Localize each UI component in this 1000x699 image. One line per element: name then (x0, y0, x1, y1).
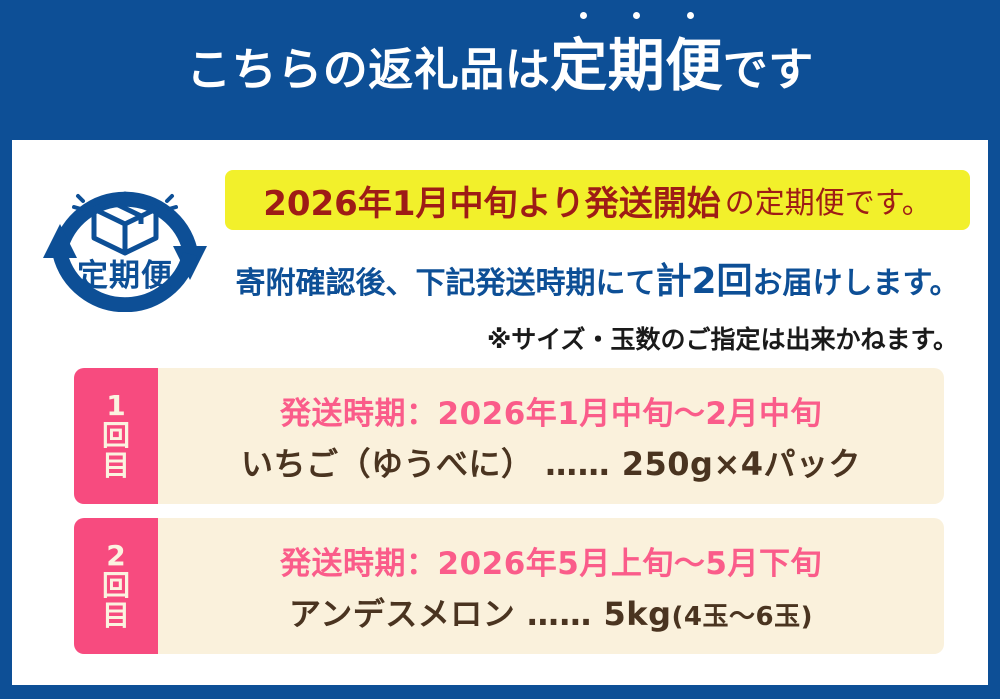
subscription-cycle-box-icon: 定期便 (30, 162, 220, 312)
delivery-index-number: 1 (106, 391, 125, 421)
delivery-product-sub: (4玉〜6玉) (672, 602, 813, 632)
summary-emphasis: 計2回 (655, 261, 752, 302)
delivery-detail: 発送時期：2026年1月中旬〜2月中旬 いちご（ゆうべに） …… 250g×4パ… (158, 368, 944, 504)
delivery-row: 2 回 目 発送時期：2026年5月上旬〜5月下旬 アンデスメロン …… 5kg… (74, 518, 944, 654)
header-bar: こちらの返礼品は 定期便 です (0, 0, 1000, 130)
icon-label: 定期便 (30, 250, 220, 295)
title-prefix: こちらの返礼品は (186, 33, 550, 98)
delivery-row: 1 回 目 発送時期：2026年1月中旬〜2月中旬 いちご（ゆうべに） …… 2… (74, 368, 944, 504)
summary-part2: お届けします。 (753, 266, 960, 301)
highlight-strong-text: 2026年1月中旬より発送開始 (263, 176, 721, 225)
size-note: ※サイズ・玉数のご指定は出来かねます。 (225, 320, 970, 356)
content-card: 定期便 2026年1月中旬より発送開始 の定期便です。 寄附確認後、下記発送時期… (12, 140, 988, 685)
delivery-index-suffix: 目 (102, 601, 130, 631)
delivery-product: アンデスメロン …… 5kg(4玉〜6玉) (289, 589, 813, 635)
delivery-index-unit: 回 (102, 571, 130, 601)
delivery-period: 発送時期：2026年1月中旬〜2月中旬 (280, 388, 822, 433)
highlight-banner: 2026年1月中旬より発送開始 の定期便です。 (225, 170, 970, 230)
summary-line: 寄附確認後、下記発送時期にて計2回お届けします。 (225, 252, 970, 304)
delivery-index-tab: 1 回 目 (74, 368, 158, 504)
page-title: こちらの返礼品は 定期便 です (186, 33, 814, 98)
title-emphasis-wrap: 定期便 (550, 38, 723, 95)
delivery-period: 発送時期：2026年5月上旬〜5月下旬 (280, 538, 822, 583)
title-suffix: です (723, 33, 814, 98)
highlight-tail-text: の定期便です。 (725, 178, 932, 222)
title-emphasis: 定期便 (550, 33, 723, 99)
delivery-product-main: アンデスメロン …… 5kg (289, 595, 671, 633)
delivery-product: いちご（ゆうべに） …… 250g×4パック (241, 439, 861, 485)
delivery-index-tab: 2 回 目 (74, 518, 158, 654)
delivery-index-suffix: 目 (102, 451, 130, 481)
delivery-detail: 発送時期：2026年5月上旬〜5月下旬 アンデスメロン …… 5kg(4玉〜6玉… (158, 518, 944, 654)
delivery-index-number: 2 (106, 541, 125, 571)
delivery-index-unit: 回 (102, 421, 130, 451)
emphasis-dots-icon (550, 12, 723, 19)
summary-part1: 寄附確認後、下記発送時期にて (235, 266, 655, 301)
delivery-product-main: いちご（ゆうべに） …… 250g×4パック (241, 445, 861, 483)
promo-banner: こちらの返礼品は 定期便 です (0, 0, 1000, 699)
